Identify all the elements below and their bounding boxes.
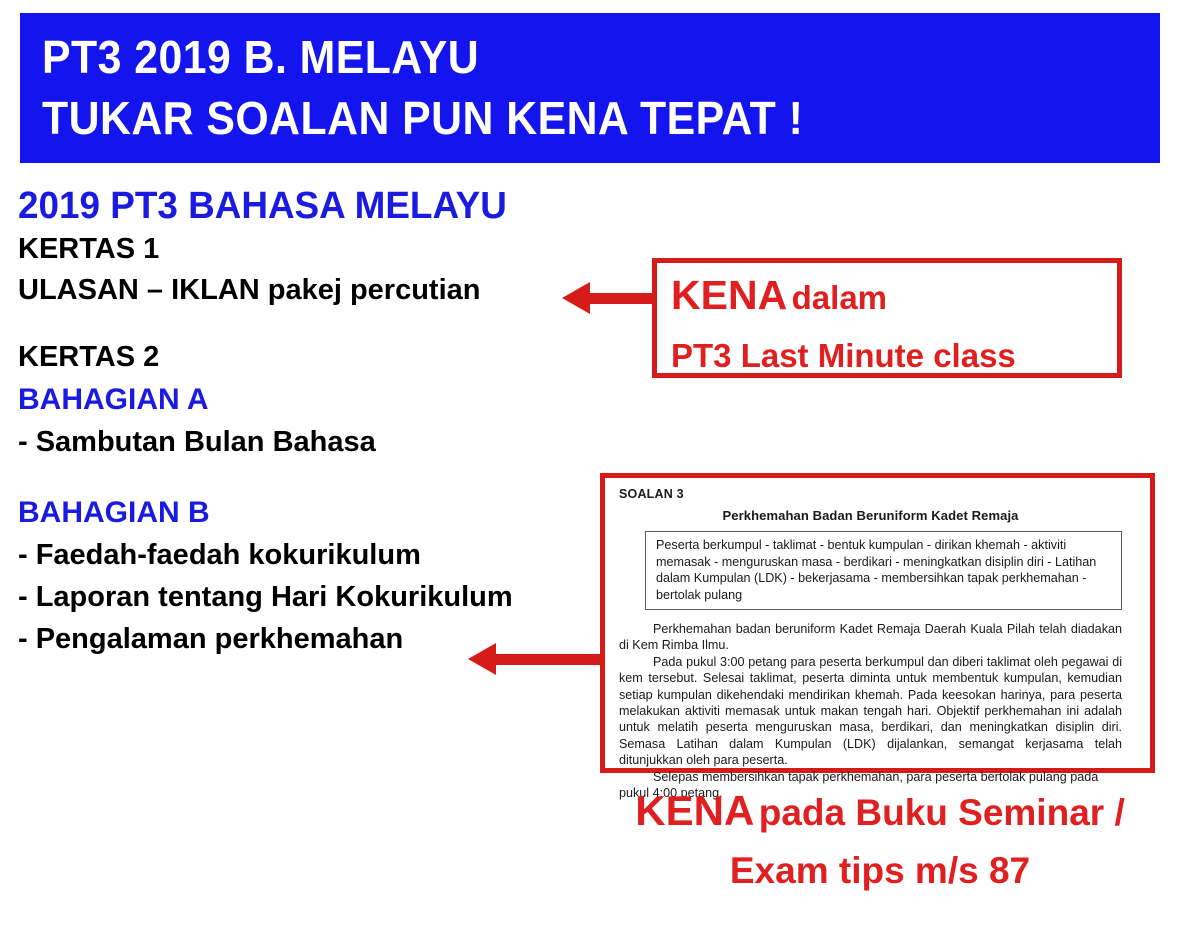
title-banner: PT3 2019 B. MELAYU TUKAR SOALAN PUN KENA…	[20, 13, 1160, 163]
syllabus-outline: 2019 PT3 BAHASA MELAYU KERTAS 1 ULASAN –…	[18, 183, 618, 660]
banner-line-2: TUKAR SOALAN PUN KENA TEPAT !	[42, 88, 1082, 149]
caption-line-1: KENA pada Buku Seminar /	[600, 786, 1160, 846]
document-paragraph-2: Pada pukul 3:00 petang para peserta berk…	[619, 654, 1122, 769]
document-paragraph-1: Perkhemahan badan beruniform Kadet Remaj…	[619, 621, 1122, 654]
spacer-1	[18, 311, 618, 337]
callout-line-1: KENA dalam	[671, 270, 1117, 330]
banner-line-1: PT3 2019 B. MELAYU	[42, 27, 1082, 88]
arrow-shaft	[495, 654, 600, 665]
exam-question-document: SOALAN 3 Perkhemahan Badan Beruniform Ka…	[600, 473, 1155, 773]
kertas-1-label: KERTAS 1	[18, 229, 618, 270]
stimulus-text: Peserta berkumpul - taklimat - bentuk ku…	[656, 537, 1113, 603]
kertas-1-item: ULASAN – IKLAN pakej percutian	[18, 270, 618, 311]
bahagian-b-item-1: - Faedah-faedah kokurikulum	[18, 534, 618, 576]
outline-heading: 2019 PT3 BAHASA MELAYU	[18, 183, 600, 229]
document-title: Perkhemahan Badan Beruniform Kadet Remaj…	[619, 508, 1122, 523]
kena-dalam-callout: KENA dalam PT3 Last Minute class	[652, 258, 1122, 378]
bahagian-b-title: BAHAGIAN B	[18, 491, 618, 534]
callout-kena-word: KENA	[671, 272, 787, 318]
stimulus-box: Peserta berkumpul - taklimat - bentuk ku…	[645, 531, 1122, 610]
bahagian-a-title: BAHAGIAN A	[18, 378, 618, 421]
caption-line-2: Exam tips m/s 87	[600, 846, 1160, 896]
soalan-label: SOALAN 3	[619, 487, 1122, 501]
arrow-head	[562, 282, 590, 314]
bahagian-b-item-2: - Laporan tentang Hari Kokurikulum	[18, 576, 618, 618]
document-body: Perkhemahan badan beruniform Kadet Remaj…	[619, 621, 1122, 801]
arrow-shaft	[588, 293, 658, 304]
arrow-head	[468, 643, 496, 675]
kena-buku-seminar-caption: KENA pada Buku Seminar / Exam tips m/s 8…	[600, 786, 1160, 896]
caption-rest-text: pada Buku Seminar /	[759, 792, 1125, 833]
callout-dalam-word: dalam	[792, 279, 887, 316]
kertas-2-label: KERTAS 2	[18, 337, 618, 378]
spacer-2	[18, 463, 618, 491]
caption-kena-word: KENA	[635, 787, 754, 834]
callout-line-2: PT3 Last Minute class	[671, 330, 1117, 381]
bahagian-a-item-1: - Sambutan Bulan Bahasa	[18, 421, 618, 463]
